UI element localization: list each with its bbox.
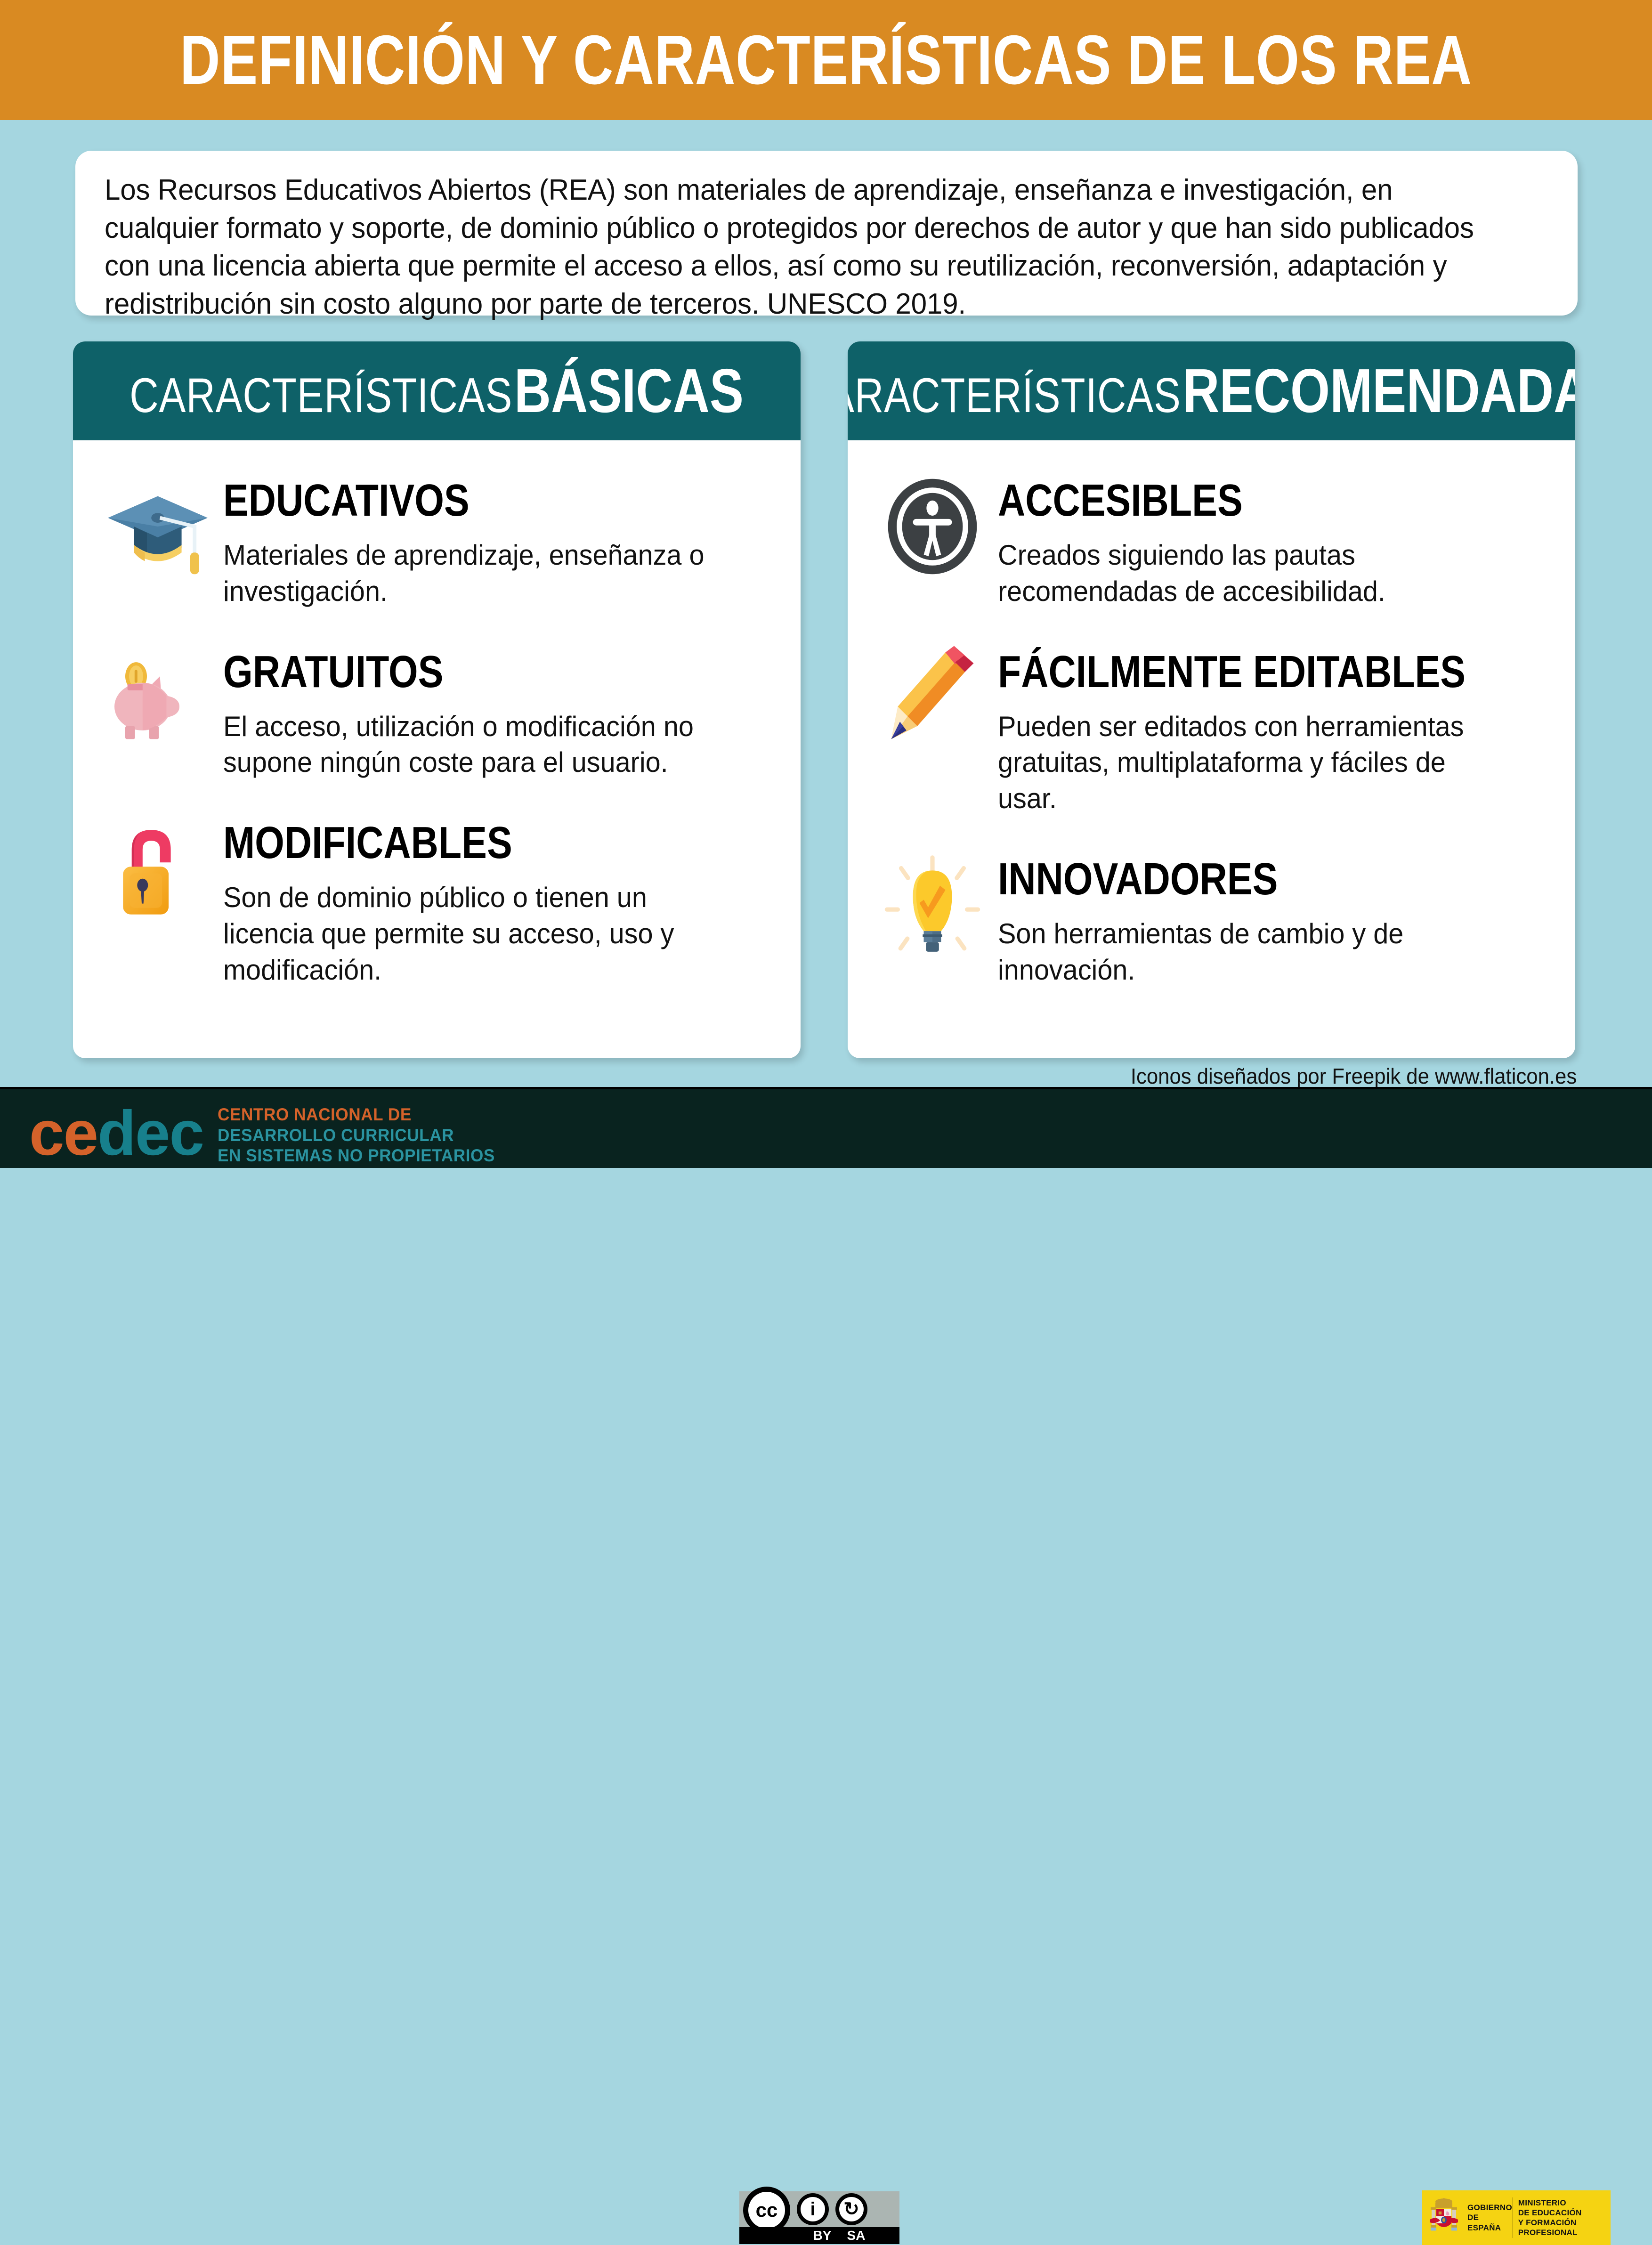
spain-coat-of-arms-icon xyxy=(1427,2195,1461,2240)
open-padlock-icon xyxy=(99,810,217,928)
ministry-logo: GOBIERNO DE ESPAÑA MINISTERIO DE EDUCACI… xyxy=(1422,2190,1611,2245)
panel-header-recomendadas-bold: RECOMENDADAS xyxy=(1183,356,1575,425)
intro-definition-card: Los Recursos Educativos Abiertos (REA) s… xyxy=(75,151,1578,316)
cc-logo-icon: cc xyxy=(743,2187,790,2234)
ministry-department-text: MINISTERIO DE EDUCACIÓN Y FORMACIÓN PROF… xyxy=(1513,2198,1611,2238)
cc-sa-glyph: ↻ xyxy=(839,2197,864,2221)
feature-gratuitos-text: GRATUITOS El acceso, utilización o modif… xyxy=(217,639,755,781)
ministry-gobierno-text: GOBIERNO DE ESPAÑA xyxy=(1461,2203,1512,2233)
page-header: DEFINICIÓN Y CARACTERÍSTICAS DE LOS REA xyxy=(0,0,1652,120)
feature-facilmente-editables-title: FÁCILMENTE EDITABLES xyxy=(998,649,1466,695)
cedec-subtitle: CENTRO NACIONAL DE DESARROLLO CURRICULAR… xyxy=(218,1102,495,1166)
feature-modificables-title: MODIFICABLES xyxy=(223,820,670,866)
feature-innovadores-text: INNOVADORES Son herramientas de cambio y… xyxy=(991,846,1530,989)
cc-badge-icons: cc i ↻ xyxy=(739,2191,899,2227)
feature-facilmente-editables-desc: Pueden ser editados con herramientas gra… xyxy=(998,709,1509,817)
panel-caracteristicas-recomendadas: CARACTERÍSTICAS RECOMENDADAS ACCESIBLES … xyxy=(848,341,1575,1058)
feature-educativos: EDUCATIVOS Materiales de aprendizaje, en… xyxy=(99,468,775,610)
feature-facilmente-editables: FÁCILMENTE EDITABLES Pueden ser editados… xyxy=(874,639,1549,817)
feature-accesibles-title: ACCESIBLES xyxy=(998,478,1445,523)
cc-by-person-icon: i xyxy=(797,2193,829,2225)
feature-accesibles: ACCESIBLES Creados siguiendo las pautas … xyxy=(874,468,1549,610)
panel-header-basicas-thin: CARACTERÍSTICAS xyxy=(130,368,513,423)
feature-accesibles-text: ACCESIBLES Creados siguiendo las pautas … xyxy=(991,468,1530,610)
piggy-bank-icon xyxy=(99,639,217,757)
feature-educativos-text: EDUCATIVOS Materiales de aprendizaje, en… xyxy=(217,468,755,610)
feature-innovadores-title: INNOVADORES xyxy=(998,857,1445,902)
cc-sa-label: SA xyxy=(839,2228,873,2243)
accessibility-icon xyxy=(874,468,991,585)
feature-innovadores: INNOVADORES Son herramientas de cambio y… xyxy=(874,846,1549,989)
panel-body-basicas: EDUCATIVOS Materiales de aprendizaje, en… xyxy=(73,440,801,989)
feature-modificables-desc: Son de dominio público o tienen un licen… xyxy=(223,880,734,988)
cedec-subtitle-line1: CENTRO NACIONAL DE xyxy=(218,1104,495,1125)
feature-modificables: MODIFICABLES Son de dominio público o ti… xyxy=(99,810,775,988)
feature-accesibles-desc: Creados siguiendo las pautas recomendada… xyxy=(998,537,1509,610)
panel-header-basicas-bold: BÁSICAS xyxy=(514,356,744,425)
cc-logo-text: cc xyxy=(748,2192,785,2229)
ministry-line-formacion: Y FORMACIÓN PROFESIONAL xyxy=(1518,2218,1611,2238)
feature-gratuitos: GRATUITOS El acceso, utilización o modif… xyxy=(99,639,775,781)
panel-body-recomendadas: ACCESIBLES Creados siguiendo las pautas … xyxy=(848,440,1575,989)
cedec-logo: cedec CENTRO NACIONAL DE DESARROLLO CURR… xyxy=(29,1102,510,1166)
cc-sa-share-alike-icon: ↻ xyxy=(835,2193,867,2225)
ministry-line-espana: DE ESPAÑA xyxy=(1467,2213,1512,2233)
cedec-wordmark: cedec xyxy=(29,1102,203,1165)
pencil-icon xyxy=(874,639,991,757)
page-title: DEFINICIÓN Y CARACTERÍSTICAS DE LOS REA xyxy=(180,25,1472,95)
intro-definition-text: Los Recursos Educativos Abiertos (REA) s… xyxy=(105,171,1505,323)
panel-caracteristicas-basicas: CARACTERÍSTICAS BÁSICAS ED xyxy=(73,341,801,1058)
feature-gratuitos-title: GRATUITOS xyxy=(223,649,670,695)
feature-gratuitos-desc: El acceso, utilización o modificación no… xyxy=(223,709,734,781)
cc-by-label: BY xyxy=(805,2228,839,2243)
panel-header-basicas: CARACTERÍSTICAS BÁSICAS xyxy=(73,341,801,440)
ministry-line-educacion: DE EDUCACIÓN xyxy=(1518,2208,1611,2218)
cc-by-glyph: i xyxy=(801,2197,825,2221)
ministry-line-ministerio: MINISTERIO xyxy=(1518,2198,1611,2208)
feature-educativos-desc: Materiales de aprendizaje, enseñanza o i… xyxy=(223,537,734,610)
feature-innovadores-desc: Son herramientas de cambio y de innovaci… xyxy=(998,916,1509,989)
ministry-line-gobierno: GOBIERNO xyxy=(1467,2203,1512,2213)
cedec-wordmark-dec: dec xyxy=(97,1098,203,1168)
creative-commons-badge[interactable]: cc i ↻ BY SA xyxy=(739,2191,899,2244)
panel-header-recomendadas: CARACTERÍSTICAS RECOMENDADAS xyxy=(848,341,1575,440)
lightbulb-icon xyxy=(874,846,991,964)
cedec-subtitle-line3: EN SISTEMAS NO PROPIETARIOS xyxy=(218,1145,495,1166)
panel-header-recomendadas-thin: CARACTERÍSTICAS xyxy=(848,368,1181,423)
icon-attribution-text: Iconos diseñados por Freepik de www.flat… xyxy=(1131,1063,1577,1089)
feature-educativos-title: EDUCATIVOS xyxy=(223,478,670,523)
graduation-cap-icon xyxy=(99,468,217,585)
page-footer: cedec CENTRO NACIONAL DE DESARROLLO CURR… xyxy=(0,1087,1652,1168)
cedec-subtitle-line2: DESARROLLO CURRICULAR xyxy=(218,1125,495,1146)
feature-modificables-text: MODIFICABLES Son de dominio público o ti… xyxy=(217,810,755,988)
cedec-wordmark-ce: ce xyxy=(29,1098,97,1168)
cc-badge-labels: BY SA xyxy=(739,2227,899,2244)
feature-facilmente-editables-text: FÁCILMENTE EDITABLES Pueden ser editados… xyxy=(991,639,1555,817)
